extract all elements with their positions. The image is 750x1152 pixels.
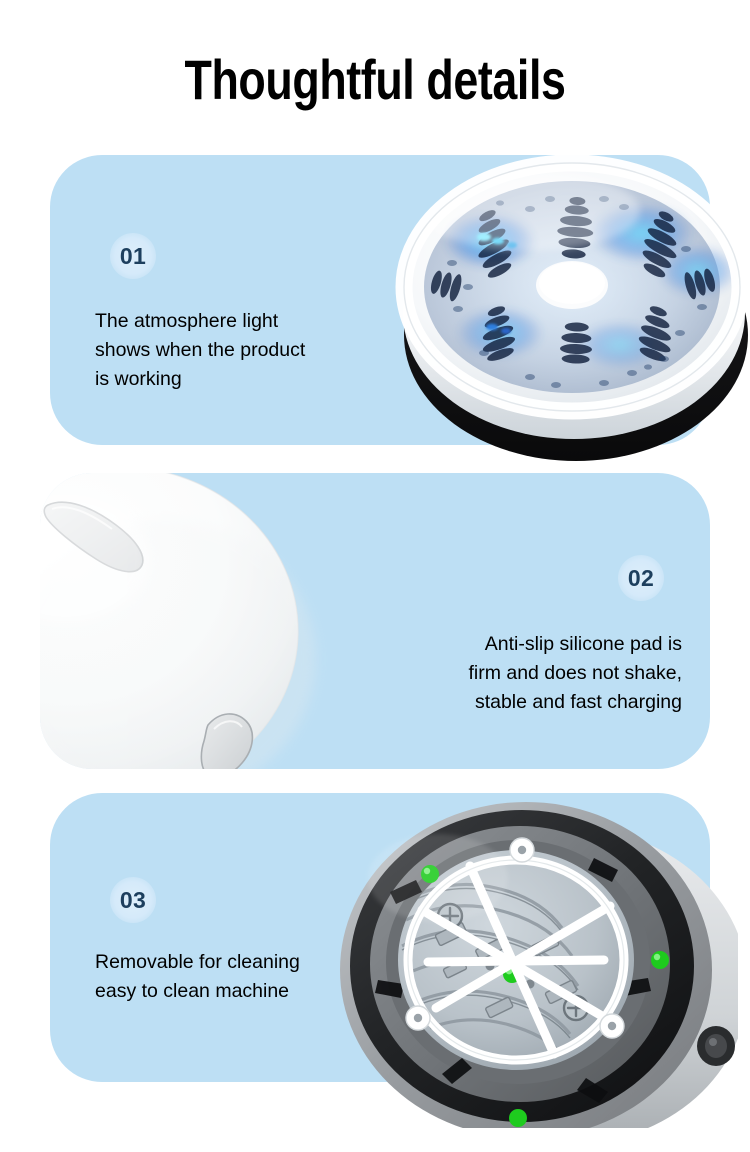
card-1-number: 01: [120, 243, 146, 270]
detail-card-3: 03 Removable for cleaning easy to clean …: [50, 793, 710, 1082]
card-2-number-badge: 02: [618, 555, 664, 601]
card-1-description: The atmosphere light shows when the prod…: [95, 307, 395, 394]
card-2-description: Anti-slip silicone pad is firm and does …: [362, 630, 682, 717]
card-2-number: 02: [628, 565, 654, 592]
card-1-number-badge: 01: [110, 233, 156, 279]
card-3-number-badge: 03: [110, 877, 156, 923]
card-3-artwork-layer: [50, 793, 710, 1082]
page-title: Thoughtful details: [75, 48, 675, 112]
card-1-artwork-layer: [50, 155, 710, 445]
silicone-pad-image: [40, 473, 370, 769]
card-3-number: 03: [120, 887, 146, 914]
uv-sterilizer-image: [380, 137, 750, 467]
detail-card-2: 02 Anti-slip silicone pad is firm and do…: [40, 473, 710, 769]
card-2-artwork-layer: [40, 473, 710, 769]
detail-card-1: 01 The atmosphere light shows when the p…: [50, 155, 710, 445]
card-3-description: Removable for cleaning easy to clean mac…: [95, 948, 395, 1006]
